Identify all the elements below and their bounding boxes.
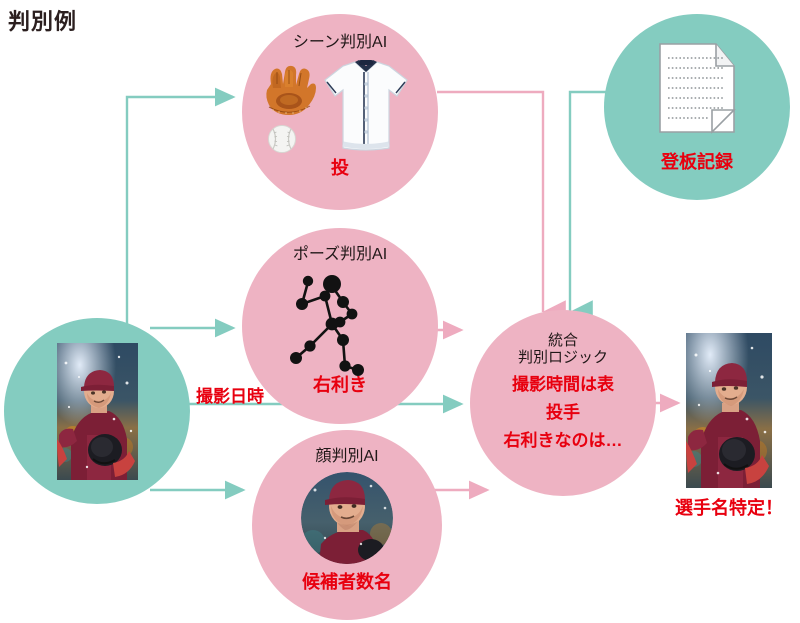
- scene-ai-verdict: 投: [242, 158, 438, 179]
- baseball-icon: [267, 124, 297, 154]
- source-photo-node[interactable]: [4, 318, 190, 504]
- pose-ai-node[interactable]: ポーズ判別AI: [242, 228, 438, 424]
- skeleton-pose-icon: [280, 266, 400, 378]
- glove-icon: [263, 62, 317, 118]
- fusion-title-line2: 判別ロジック: [518, 349, 608, 366]
- pose-ai-title: ポーズ判別AI: [293, 246, 387, 264]
- scene-ai-node[interactable]: シーン判別AI: [242, 14, 438, 210]
- scene-ai-title: シーン判別AI: [293, 34, 387, 52]
- edge-scene-to-fusion: [437, 92, 543, 312]
- output-node[interactable]: 選手名特定！: [686, 333, 772, 488]
- output-photo: [686, 333, 772, 488]
- pose-ai-verdict: 右利き: [242, 375, 438, 396]
- fusion-verdict-line3: 右利きなのは…: [504, 431, 623, 451]
- face-ai-verdict: 候補者数名: [252, 572, 442, 593]
- page-title: 判別例: [8, 4, 77, 36]
- face-ai-title: 顔判別AI: [315, 448, 378, 466]
- source-photo: [57, 343, 138, 480]
- diagram-canvas: 判別例: [0, 0, 800, 623]
- face-photo-icon: [301, 472, 393, 564]
- output-verdict: 選手名特定！: [661, 494, 797, 520]
- face-ai-node[interactable]: 顔判別AI: [252, 430, 442, 620]
- fusion-verdict-line1: 撮影時間は表: [512, 375, 614, 395]
- edge-label-datetime: 撮影日時: [196, 382, 264, 407]
- jersey-icon: [321, 56, 411, 156]
- fusion-title-line1: 統合: [548, 332, 578, 349]
- fusion-logic-node[interactable]: 統合 判別ロジック 撮影時間は表 投手 右利きなのは…: [470, 310, 656, 496]
- record-node[interactable]: 登板記録: [604, 14, 790, 200]
- document-icon: [658, 42, 736, 134]
- scene-ai-icons: [255, 56, 425, 156]
- record-verdict: 登板記録: [604, 152, 790, 173]
- fusion-verdict-line2: 投手: [546, 403, 580, 423]
